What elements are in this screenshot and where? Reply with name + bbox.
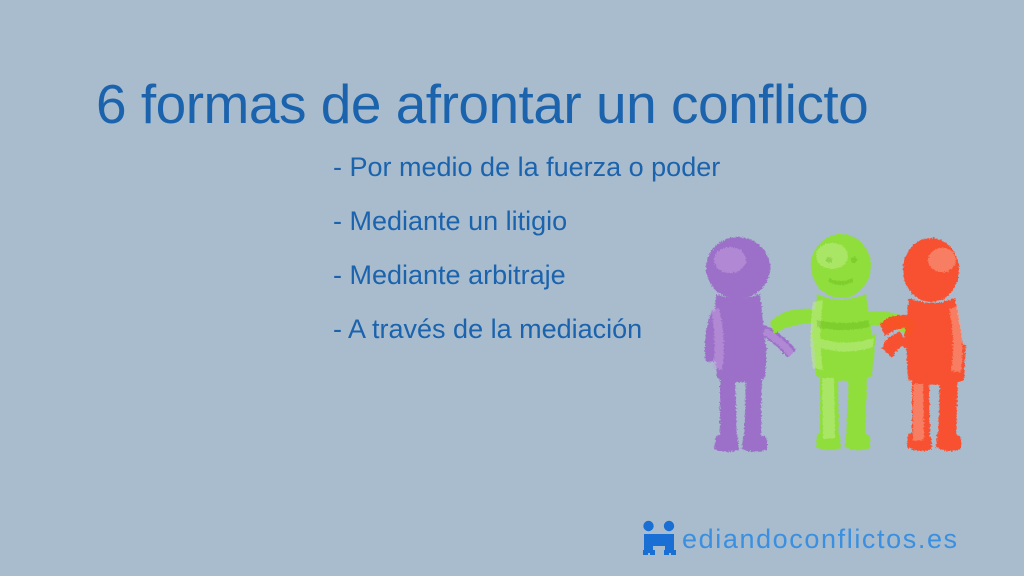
- purple-figure: [705, 237, 796, 452]
- three-figures-illustration: [686, 228, 986, 478]
- orange-figure: [880, 238, 966, 451]
- mediando-m-icon: [641, 520, 681, 558]
- list-item: - Por medio de la fuerza o poder: [333, 154, 813, 181]
- slide-canvas: 6 formas de afrontar un conflicto - Por …: [0, 0, 1024, 576]
- page-title: 6 formas de afrontar un conflicto: [96, 73, 956, 136]
- site-logo[interactable]: ediandoconflictos.es: [641, 518, 959, 560]
- logo-wordmark: ediandoconflictos.es: [682, 526, 959, 553]
